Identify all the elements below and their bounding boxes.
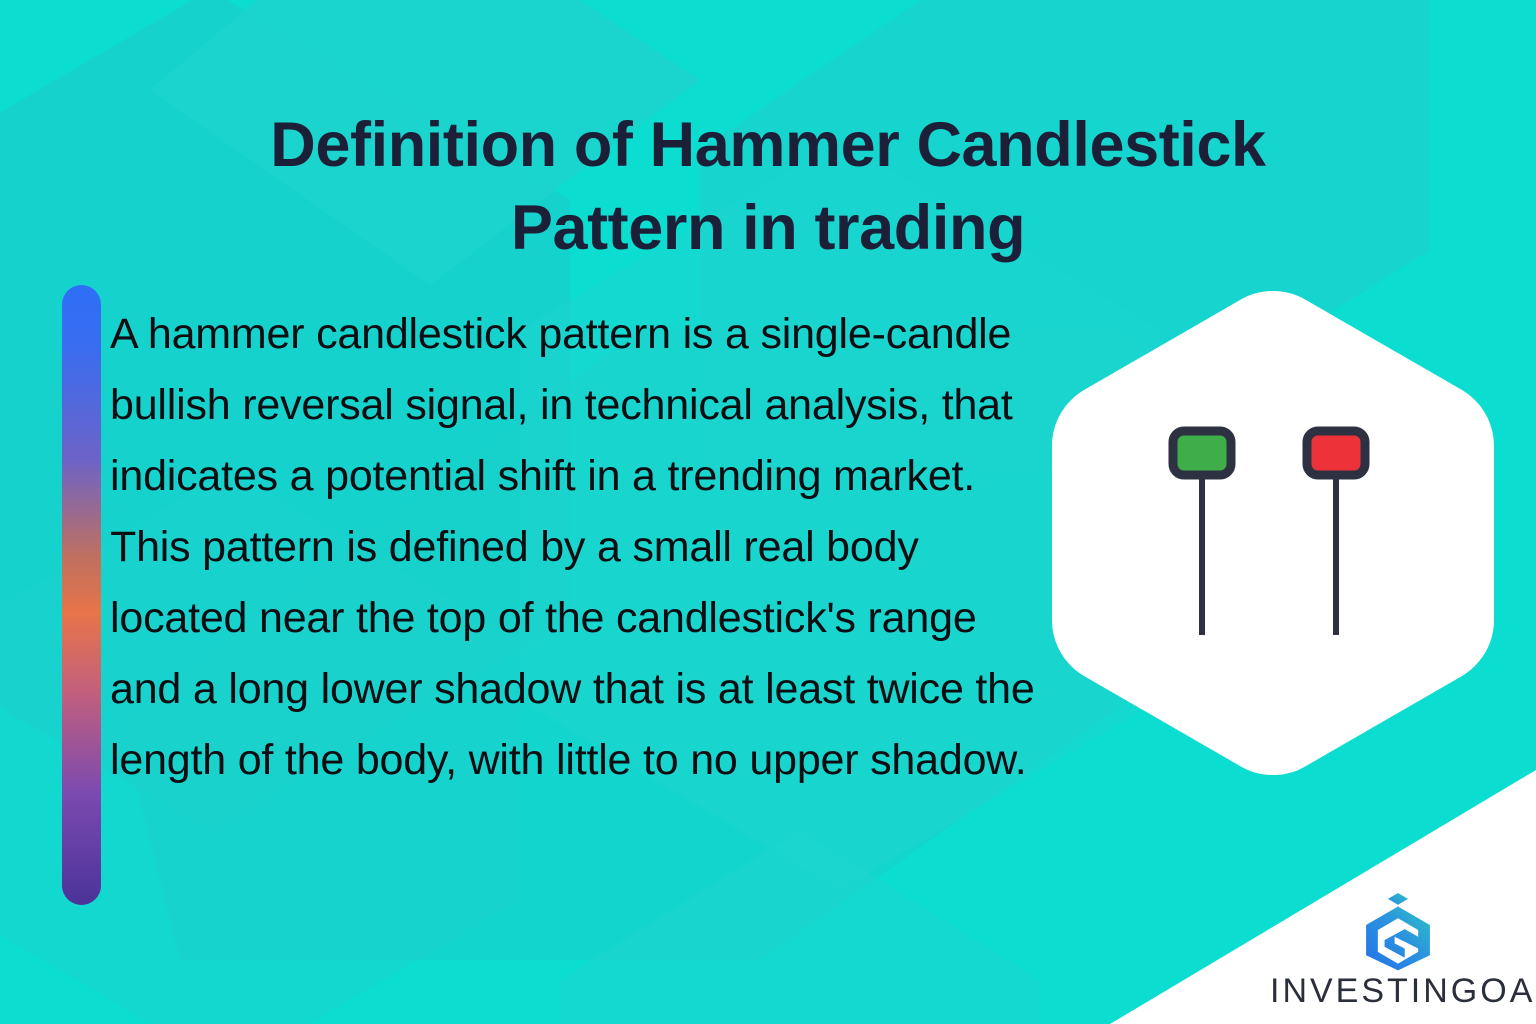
hammer-candlestick-illustration (1030, 283, 1516, 783)
investingoal-logo: INVESTINGOAL (1270, 888, 1526, 1006)
bearish-real-body (1307, 431, 1365, 475)
infographic-canvas: Definition of Hammer Candlestick Pattern… (0, 0, 1536, 1024)
hexagon-g-logo-icon (1356, 888, 1440, 972)
bullish-real-body (1173, 431, 1231, 475)
hexagon-card (1052, 291, 1494, 775)
page-title: Definition of Hammer Candlestick Pattern… (118, 104, 1418, 270)
accent-gradient-bar (62, 285, 101, 905)
logo-wordmark: INVESTINGOAL (1270, 972, 1536, 1011)
logo-accent-dot (1388, 893, 1408, 905)
definition-paragraph: A hammer candlestick pattern is a single… (110, 299, 1040, 796)
